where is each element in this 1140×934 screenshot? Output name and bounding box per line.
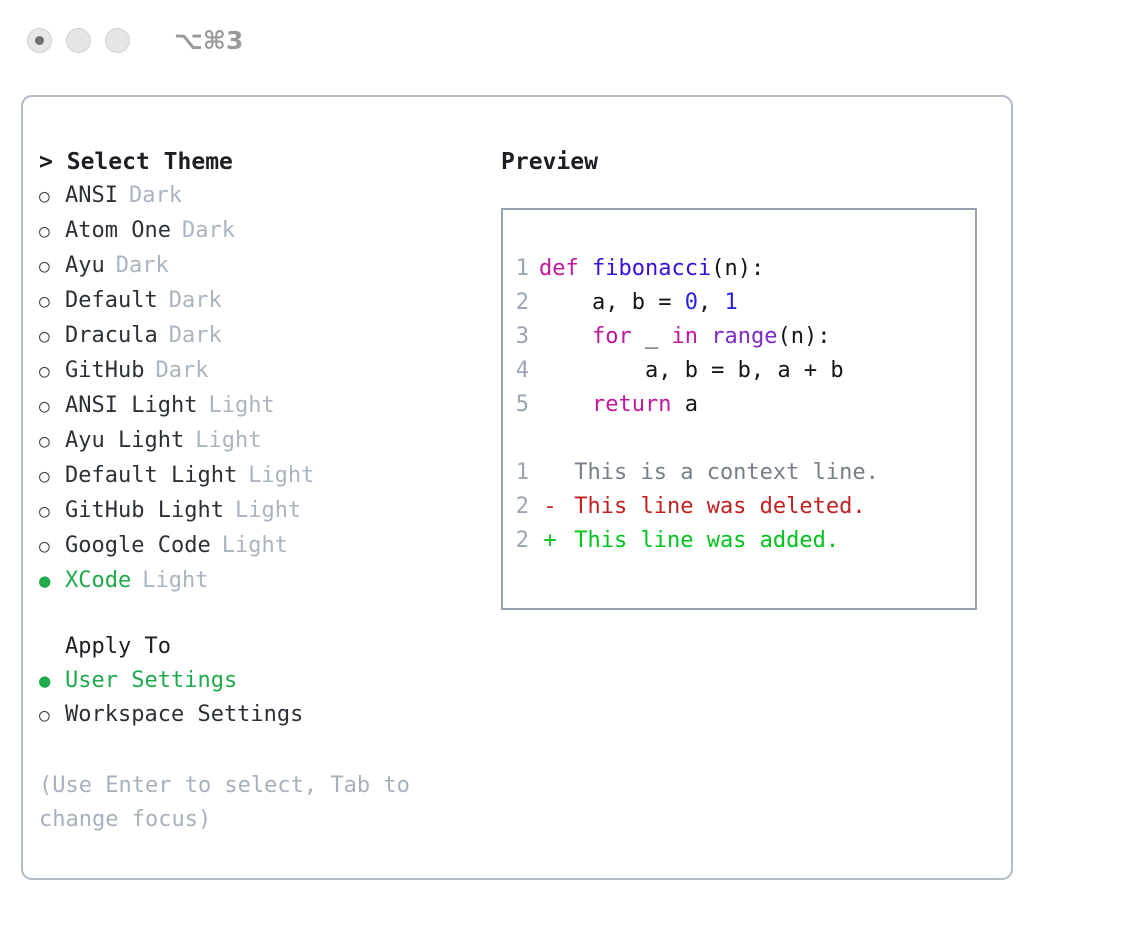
theme-option-kind: Dark	[182, 214, 235, 248]
line-number: 2	[503, 524, 539, 558]
radio-unselected-icon: ○	[39, 215, 61, 249]
select-theme-heading-label: Select Theme	[67, 149, 233, 175]
code-token-plain	[579, 256, 592, 281]
theme-option-google-code[interactable]: ○Google CodeLight	[39, 529, 469, 564]
code-token-kw: def	[539, 256, 579, 281]
code-line: 3 for _ in range(n):	[503, 320, 975, 354]
diff-marker-icon: -	[539, 490, 561, 524]
code-token-num: 1	[724, 290, 737, 315]
code-line: 5 return a	[503, 388, 975, 422]
theme-option-ansi[interactable]: ○ANSIDark	[39, 179, 469, 214]
radio-unselected-icon: ○	[39, 699, 61, 733]
radio-unselected-icon: ○	[39, 285, 61, 319]
line-number: 1	[503, 252, 539, 286]
theme-picker-column: > Select Theme ○ANSIDark○Atom OneDark○Ay…	[39, 145, 469, 837]
code-token-plain	[698, 324, 711, 349]
diff-marker-icon	[539, 456, 561, 490]
code-token-plain	[539, 392, 592, 417]
apply-to-option-list: ●User Settings○Workspace Settings	[39, 664, 469, 733]
preview-box: 1def fibonacci(n):2 a, b = 0, 13 for _ i…	[501, 208, 977, 610]
code-token-kw: in	[671, 324, 698, 349]
keyboard-shortcut-label: ⌥⌘3	[174, 26, 243, 55]
theme-option-github-light[interactable]: ○GitHub LightLight	[39, 494, 469, 529]
apply-to-option-workspace-settings[interactable]: ○Workspace Settings	[39, 698, 469, 733]
code-token-plain	[539, 324, 592, 349]
window-control-dot-1[interactable]	[27, 28, 52, 53]
code-line-text: a, b = b, a + b	[539, 354, 844, 388]
keyboard-hint-text: (Use Enter to select, Tab to change focu…	[39, 769, 439, 837]
code-token-plain: _	[632, 324, 672, 349]
prompt-caret-icon: >	[39, 149, 53, 175]
theme-option-kind: Light	[208, 389, 274, 423]
radio-selected-icon: ●	[39, 564, 61, 598]
radio-unselected-icon: ○	[39, 355, 61, 389]
code-line: 1def fibonacci(n):	[503, 252, 975, 286]
window-titlebar: ⌥⌘3	[0, 0, 1140, 80]
code-line-text: a, b = 0, 1	[539, 286, 738, 320]
theme-option-kind: Dark	[129, 179, 182, 213]
theme-option-label: GitHub Light	[65, 494, 224, 528]
line-number: 1	[503, 456, 539, 490]
main-panel: > Select Theme ○ANSIDark○Atom OneDark○Ay…	[21, 95, 1013, 880]
theme-option-kind: Dark	[169, 319, 222, 353]
active-dot-icon	[35, 36, 44, 45]
apply-to-option-user-settings[interactable]: ●User Settings	[39, 664, 469, 698]
theme-option-kind: Light	[195, 424, 261, 458]
theme-option-kind: Dark	[169, 284, 222, 318]
radio-selected-icon: ●	[39, 664, 61, 698]
diff-line-del: 2- This line was deleted.	[503, 490, 975, 524]
radio-unselected-icon: ○	[39, 250, 61, 284]
theme-option-kind: Light	[142, 564, 208, 598]
theme-option-label: Dracula	[65, 319, 158, 353]
diff-marker-icon: +	[539, 524, 561, 558]
theme-option-kind: Dark	[116, 249, 169, 283]
theme-option-atom-one[interactable]: ○Atom OneDark	[39, 214, 469, 249]
code-line-text: def fibonacci(n):	[539, 252, 764, 286]
diff-line-add: 2+ This line was added.	[503, 524, 975, 558]
line-number: 2	[503, 490, 539, 524]
diff-line-ctx: 1 This is a context line.	[503, 456, 975, 490]
code-line: 4 a, b = b, a + b	[503, 354, 975, 388]
theme-option-label: ANSI Light	[65, 389, 197, 423]
radio-unselected-icon: ○	[39, 425, 61, 459]
code-token-plain: ,	[698, 290, 725, 315]
theme-option-ayu[interactable]: ○AyuDark	[39, 249, 469, 284]
radio-unselected-icon: ○	[39, 495, 61, 529]
code-token-plain: a, b =	[539, 290, 685, 315]
code-sample: 1def fibonacci(n):2 a, b = 0, 13 for _ i…	[503, 252, 975, 422]
apply-to-heading: Apply To	[65, 630, 469, 664]
theme-option-label: XCode	[65, 564, 131, 598]
select-theme-heading: > Select Theme	[39, 145, 469, 179]
radio-unselected-icon: ○	[39, 180, 61, 214]
theme-option-label: Atom One	[65, 214, 171, 248]
radio-unselected-icon: ○	[39, 390, 61, 424]
line-number: 3	[503, 320, 539, 354]
code-token-kw: for	[592, 324, 632, 349]
code-token-num: 0	[685, 290, 698, 315]
apply-to-option-label: Workspace Settings	[65, 698, 303, 732]
theme-option-xcode[interactable]: ●XCodeLight	[39, 564, 469, 598]
theme-option-default[interactable]: ○DefaultDark	[39, 284, 469, 319]
code-token-plain: (n):	[711, 256, 764, 281]
code-token-fn: fibonacci	[592, 256, 711, 281]
theme-option-label: GitHub	[65, 354, 144, 388]
theme-option-label: ANSI	[65, 179, 118, 213]
theme-option-github[interactable]: ○GitHubDark	[39, 354, 469, 389]
line-number: 2	[503, 286, 539, 320]
theme-option-ayu-light[interactable]: ○Ayu LightLight	[39, 424, 469, 459]
radio-unselected-icon: ○	[39, 320, 61, 354]
code-token-call: range	[711, 324, 777, 349]
code-line: 2 a, b = 0, 1	[503, 286, 975, 320]
code-token-plain: (n):	[777, 324, 830, 349]
theme-option-dracula[interactable]: ○DraculaDark	[39, 319, 469, 354]
code-token-kw: return	[592, 392, 671, 417]
line-number: 4	[503, 354, 539, 388]
theme-option-kind: Light	[235, 494, 301, 528]
code-line-text: for _ in range(n):	[539, 320, 830, 354]
code-token-plain: a	[671, 392, 698, 417]
apply-to-option-label: User Settings	[65, 664, 237, 698]
window-control-dot-2[interactable]	[66, 28, 91, 53]
theme-option-default-light[interactable]: ○Default LightLight	[39, 459, 469, 494]
code-line-text: return a	[539, 388, 698, 422]
theme-option-kind: Dark	[155, 354, 208, 388]
theme-option-kind: Light	[248, 459, 314, 493]
window-control-dot-3[interactable]	[105, 28, 130, 53]
radio-unselected-icon: ○	[39, 460, 61, 494]
line-number: 5	[503, 388, 539, 422]
theme-option-label: Default	[65, 284, 158, 318]
radio-unselected-icon: ○	[39, 530, 61, 564]
diff-line-text: This line was deleted.	[561, 490, 866, 524]
preview-column: Preview 1def fibonacci(n):2 a, b = 0, 13…	[501, 145, 991, 610]
theme-option-kind: Light	[222, 529, 288, 563]
diff-sample: 1 This is a context line.2- This line wa…	[503, 456, 975, 558]
theme-option-ansi-light[interactable]: ○ANSI LightLight	[39, 389, 469, 424]
theme-option-label: Google Code	[65, 529, 211, 563]
theme-option-label: Ayu	[65, 249, 105, 283]
theme-option-label: Ayu Light	[65, 424, 184, 458]
diff-line-text: This is a context line.	[561, 456, 879, 490]
window-controls	[27, 28, 130, 53]
theme-option-list: ○ANSIDark○Atom OneDark○AyuDark○DefaultDa…	[39, 179, 469, 598]
diff-line-text: This line was added.	[561, 524, 839, 558]
code-token-plain: a, b = b, a + b	[539, 358, 844, 383]
preview-heading: Preview	[501, 145, 991, 179]
theme-option-label: Default Light	[65, 459, 237, 493]
